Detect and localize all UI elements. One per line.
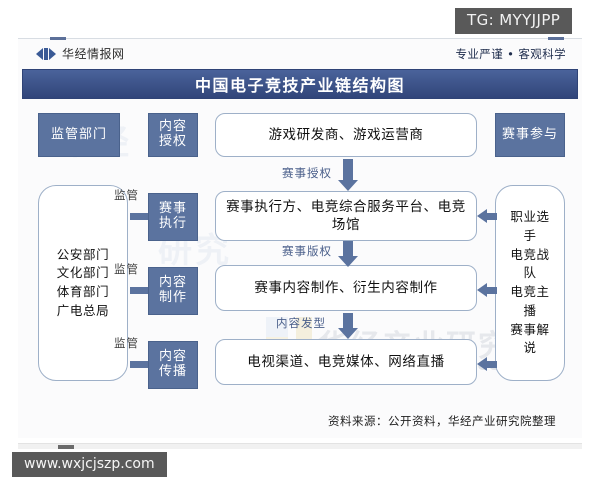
authority-line-1: 公安部门: [57, 247, 109, 262]
arrow-down-1: [338, 159, 358, 191]
node-participants: 职业选手 电竞战队 电竞主播 赛事解说: [495, 185, 565, 381]
participant-line-1: 职业选手: [510, 209, 549, 243]
brand-name: 华经情报网: [62, 45, 125, 62]
node-distribution-channels: 电视渠道、电竞媒体、网络直播: [215, 339, 477, 385]
chip-line-1: 内容: [159, 275, 187, 290]
authority-line-3: 体育部门: [57, 284, 109, 299]
authority-line-4: 广电总局: [57, 303, 109, 318]
chip-line-1: 内容: [159, 119, 187, 134]
chip-line-2: 执行: [159, 216, 187, 231]
chip-regulator-header: 监管部门: [38, 113, 120, 157]
node-authorities: 公安部门 文化部门 体育部门 广电总局: [38, 185, 128, 381]
chip-content-distribution: 内容 传播: [148, 341, 198, 389]
node-content-production: 赛事内容制作、衍生内容制作: [215, 265, 477, 311]
brand-tagline: 专业严谨 • 客观科学: [456, 46, 567, 62]
chip-line-1: 内容: [159, 349, 187, 364]
arrow-down-2: [338, 241, 358, 267]
scrollbar-thumb[interactable]: [58, 445, 74, 449]
diagram-canvas: 华经 研究 华经产业研究院 www.huaon.com 监管部门 内容 授权 游…: [18, 103, 582, 439]
node-game-developers: 游戏研发商、游戏运营商: [215, 113, 477, 157]
brand: 华经情报网: [36, 45, 125, 62]
arrow-down-3: [338, 313, 358, 339]
participant-line-2: 电竞战队: [510, 247, 549, 281]
chart-title: 中国电子竞技产业链结构图: [195, 72, 405, 96]
chip-line-2: 授权: [159, 134, 187, 149]
source-note: 资料来源：公开资料，华经产业研究院整理: [328, 413, 556, 429]
label-event-copyright: 赛事版权: [282, 243, 332, 259]
label-supervise-3: 监管: [114, 335, 139, 351]
label-event-authorization: 赛事授权: [282, 165, 332, 181]
label-supervise-1: 监管: [114, 187, 139, 203]
chip-content-authorization: 内容 授权: [148, 113, 198, 157]
chip-line-2: 制作: [159, 290, 187, 305]
chip-event-execution: 赛事 执行: [148, 193, 198, 241]
node-event-operators: 赛事执行方、电竞综合服务平台、电竞场馆: [215, 191, 477, 241]
participant-line-3: 电竞主播: [510, 284, 549, 318]
logo-icon: [36, 48, 56, 60]
label-supervise-2: 监管: [114, 261, 139, 277]
chip-line-1: 赛事: [159, 201, 187, 216]
label-content-distribution: 内容发型: [276, 315, 326, 331]
chip-content-production: 内容 制作: [148, 267, 198, 315]
authority-line-2: 文化部门: [57, 265, 109, 280]
scrollbar-track[interactable]: [18, 443, 582, 449]
screenshot-root: TG: MYYJJPP 华经情报网 专业严谨 • 客观科学 中国电子竞技产业链结…: [0, 0, 600, 480]
chart-title-bar: 中国电子竞技产业链结构图: [22, 69, 578, 99]
chip-event-participation-header: 赛事参与: [495, 113, 565, 157]
tg-watermark: TG: MYYJJPP: [455, 8, 572, 34]
url-watermark: www.wxjcjszp.com: [12, 452, 167, 477]
infographic-card: 华经情报网 专业严谨 • 客观科学 中国电子竞技产业链结构图 华经 研究 华经产…: [18, 38, 582, 438]
chip-line-2: 传播: [159, 364, 187, 379]
brand-row: 华经情报网 专业严谨 • 客观科学: [18, 39, 582, 67]
participant-line-4: 赛事解说: [510, 322, 549, 356]
